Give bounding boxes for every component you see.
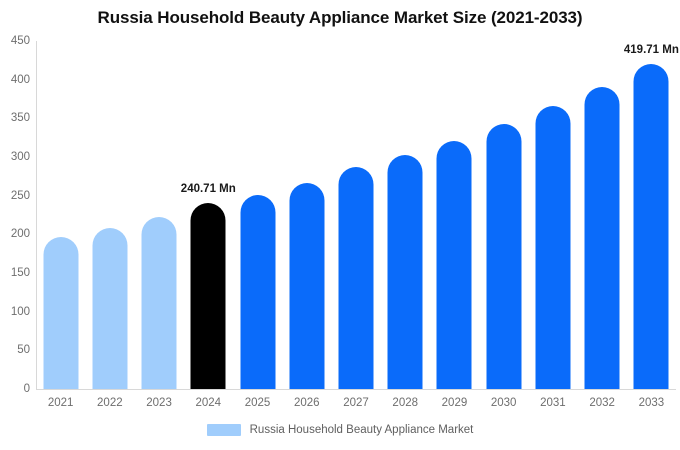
bar-slot: 2031 <box>528 41 577 389</box>
chart-title: Russia Household Beauty Appliance Market… <box>0 8 680 28</box>
y-axis-tick-label: 250 <box>0 190 30 202</box>
bar-slot: 419.71 Mn2033 <box>627 41 676 389</box>
bar-2033[interactable] <box>634 64 669 389</box>
bar-slot: 2026 <box>282 41 331 389</box>
bar-2021[interactable] <box>43 237 78 389</box>
y-axis-tick-label: 400 <box>0 74 30 86</box>
x-axis-tick-label: 2027 <box>343 397 369 409</box>
bar-slot: 240.71 Mn2024 <box>184 41 233 389</box>
legend-swatch-icon <box>207 424 241 436</box>
bar-chart: Russia Household Beauty Appliance Market… <box>0 0 680 450</box>
bar-slot: 2022 <box>85 41 134 389</box>
x-axis-tick-label: 2021 <box>48 397 74 409</box>
y-axis-tick-label: 50 <box>0 344 30 356</box>
legend-label: Russia Household Beauty Appliance Market <box>250 424 474 436</box>
x-axis-tick-label: 2030 <box>491 397 517 409</box>
bar-value-label-2024: 240.71 Mn <box>181 183 236 195</box>
bar-2029[interactable] <box>437 141 472 389</box>
x-axis-tick-label: 2033 <box>639 397 665 409</box>
chart-legend: Russia Household Beauty Appliance Market <box>0 424 680 436</box>
x-axis-tick-label: 2028 <box>392 397 418 409</box>
y-axis-tick-label: 350 <box>0 112 30 124</box>
x-axis-tick-label: 2023 <box>146 397 172 409</box>
y-axis-tick-label: 300 <box>0 151 30 163</box>
x-axis-tick-label: 2024 <box>196 397 222 409</box>
x-axis-tick-label: 2032 <box>589 397 615 409</box>
bar-2031[interactable] <box>535 106 570 389</box>
y-axis-tick-label: 100 <box>0 306 30 318</box>
bar-slot: 2029 <box>430 41 479 389</box>
bar-slot: 2032 <box>578 41 627 389</box>
bar-2023[interactable] <box>142 217 177 389</box>
x-axis-tick-label: 2022 <box>97 397 123 409</box>
bar-value-label-2033: 419.71 Mn <box>624 44 679 56</box>
bar-slot: 2025 <box>233 41 282 389</box>
bar-2024[interactable] <box>191 203 226 389</box>
x-axis-tick-label: 2031 <box>540 397 566 409</box>
x-axis-tick-label: 2029 <box>442 397 468 409</box>
bar-2027[interactable] <box>338 167 373 389</box>
bar-slot: 2021 <box>36 41 85 389</box>
bar-2022[interactable] <box>92 228 127 389</box>
x-axis-line <box>36 389 676 390</box>
bar-slot: 2028 <box>381 41 430 389</box>
plot-area: 050100150200250300350400450 202120222023… <box>36 41 676 389</box>
bar-2025[interactable] <box>240 195 275 389</box>
bar-2028[interactable] <box>388 155 423 389</box>
bar-slot: 2027 <box>331 41 380 389</box>
bar-2030[interactable] <box>486 124 521 389</box>
x-axis-tick-label: 2025 <box>245 397 271 409</box>
y-axis-tick-label: 200 <box>0 228 30 240</box>
y-axis-tick-label: 150 <box>0 267 30 279</box>
y-axis-tick-label: 0 <box>0 383 30 395</box>
bar-slot: 2030 <box>479 41 528 389</box>
bar-2032[interactable] <box>585 87 620 389</box>
bar-slot: 2023 <box>134 41 183 389</box>
legend-item[interactable]: Russia Household Beauty Appliance Market <box>207 424 474 436</box>
x-axis-tick-label: 2026 <box>294 397 320 409</box>
y-axis-tick-label: 450 <box>0 35 30 47</box>
bar-2026[interactable] <box>289 183 324 389</box>
